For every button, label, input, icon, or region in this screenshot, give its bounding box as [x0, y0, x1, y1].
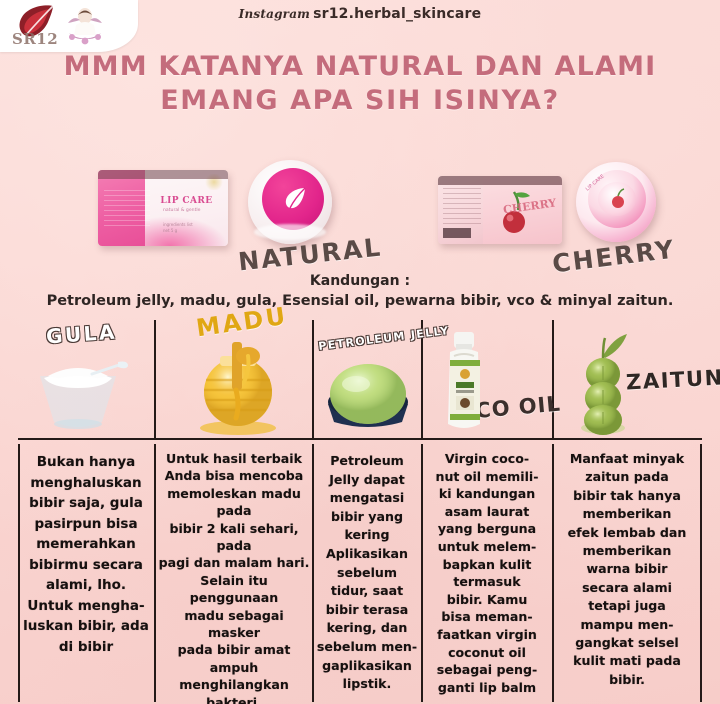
description-column-petroleum-jelly: Petroleum Jelly dapat mengatasi bibir ya…: [316, 444, 418, 694]
kandungan-block: Kandungan : Petroleum jelly, madu, gula,…: [30, 272, 690, 312]
strip-divider-1: [154, 320, 156, 438]
ingredient-label-petroleum-jelly: PETROLEUM JELLY: [318, 324, 451, 353]
description-column-vco-oil: Virgin coco- nut oil memili- ki kandunga…: [425, 444, 549, 696]
instagram-word: Instagram: [239, 7, 310, 21]
cherry-logo-icon: [608, 188, 628, 210]
product-natural-jar: [248, 160, 332, 244]
instagram-handle: sr12.herbal_skincare: [313, 6, 481, 22]
strip-horizontal-rule: [18, 438, 702, 440]
ingredient-label-zaitun: ZAITUN: [625, 365, 720, 394]
olive-stack-icon: [572, 330, 634, 436]
product-natural-box: LIP CARE natural & gentle ingredients li…: [98, 170, 228, 246]
strip-divider-2: [312, 320, 314, 438]
petroleum-jelly-tub-icon: [322, 352, 414, 436]
page-title: MMM KATANYA NATURAL DAN ALAMI EMANG APA …: [40, 50, 680, 118]
sugar-bowl-icon: [22, 358, 134, 434]
description-column-zaitun: Manfaat minyak zaitun pada bibir tak han…: [556, 444, 698, 689]
headline-line-1: MMM KATANYA NATURAL DAN ALAMI: [64, 51, 657, 82]
ingredient-image-strip: GULA MADU: [0, 320, 720, 438]
product-showcase: LIP CARE natural & gentle ingredients li…: [0, 150, 720, 272]
honey-jar-icon: [186, 336, 290, 436]
column-divider-2: [312, 444, 314, 702]
product-cherry-jar: LIP CARE: [576, 162, 656, 242]
ingredient-label-gula: GULA: [45, 320, 117, 349]
vco-bottle-icon: [436, 330, 492, 436]
headline-line-2: EMANG APA SIH ISINYA?: [40, 84, 680, 118]
infographic-poster: SR12 Instagramsr12.herbal_skincare MMM K…: [0, 0, 720, 704]
strip-divider-4: [552, 320, 554, 438]
kandungan-list: Petroleum jelly, madu, gula, Esensial oi…: [30, 291, 690, 312]
kandungan-title: Kandungan :: [30, 272, 690, 291]
description-column-madu: Untuk hasil terbaik Anda bisa mencoba me…: [158, 444, 310, 704]
product-cherry-box: CHERRY: [438, 176, 562, 244]
ingredient-description-columns: Bukan hanya menghaluskan bibir saja, gul…: [0, 444, 720, 704]
instagram-handle-line: Instagramsr12.herbal_skincare: [0, 6, 720, 22]
column-divider-1: [154, 444, 156, 702]
brand-name-text: SR12: [12, 30, 58, 48]
column-divider-3: [421, 444, 423, 702]
leaf-logo-icon: [282, 186, 308, 212]
description-column-gula: Bukan hanya menghaluskan bibir saja, gul…: [22, 444, 150, 657]
column-divider-4: [552, 444, 554, 702]
